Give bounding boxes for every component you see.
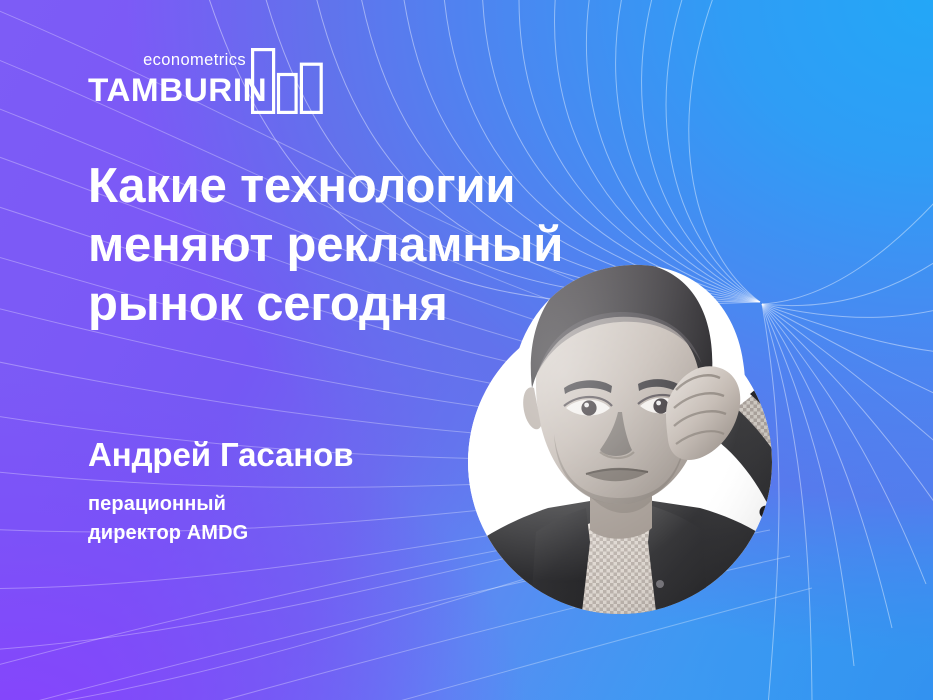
speaker-role-line-1: перационный bbox=[88, 490, 353, 518]
presentation-slide: econometrics TAMBURIN Какие технологии м… bbox=[0, 0, 933, 700]
brand-logo[interactable]: econometrics TAMBURIN bbox=[88, 52, 328, 122]
speaker-block: Андрей Гасанов перационный директор AMDG bbox=[88, 437, 353, 547]
speaker-role: перационный директор AMDG bbox=[88, 490, 353, 547]
title-line-2: меняют рекламный bbox=[88, 216, 708, 275]
slide-title: Какие технологии меняют рекламный рынок … bbox=[88, 157, 708, 333]
title-line-3: рынок сегодня bbox=[88, 275, 708, 334]
speaker-role-line-2: директор AMDG bbox=[88, 519, 353, 547]
logo-wordmark: TAMBURIN bbox=[88, 74, 267, 106]
logo-tagline: econometrics bbox=[143, 52, 246, 69]
speaker-portrait bbox=[468, 310, 772, 614]
speaker-name: Андрей Гасанов bbox=[88, 437, 353, 473]
title-line-1: Какие технологии bbox=[88, 157, 708, 216]
bar-chart-icon bbox=[251, 48, 323, 114]
